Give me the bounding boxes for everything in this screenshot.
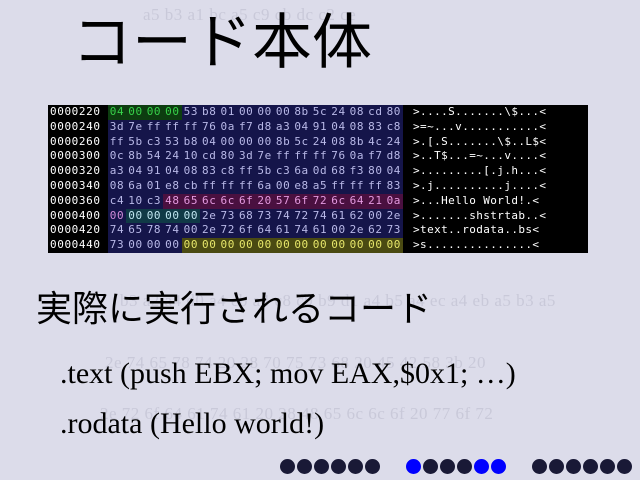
hexdump-byte: c3 — [145, 194, 163, 209]
hexdump-byte: 6f — [237, 194, 255, 209]
hexdump-byte: 64 — [255, 223, 273, 238]
hexdump-byte: 6a — [255, 179, 273, 194]
hexdump-byte: 00 — [108, 209, 126, 224]
hexdump-byte: 65 — [182, 194, 200, 209]
hexdump-byte: 00 — [255, 105, 273, 120]
hexdump-byte: 3d — [237, 149, 255, 164]
hexdump-byte: ff — [292, 149, 310, 164]
hexdump-byte: 62 — [348, 209, 366, 224]
hexdump-byte: 00 — [237, 238, 255, 253]
hexdump-byte: 0a — [385, 194, 403, 209]
hexdump-byte: f7 — [237, 120, 255, 135]
hexdump-byte: 00 — [274, 238, 292, 253]
hexdump-byte: 91 — [145, 164, 163, 179]
hexdump-byte: 48 — [163, 194, 181, 209]
hexdump-byte: 68 — [237, 209, 255, 224]
hexdump-byte: ff — [329, 179, 347, 194]
hexdump-ascii: >text..rodata..bs< — [403, 223, 588, 238]
hexdump-byte: 24 — [163, 149, 181, 164]
hexdump-byte: 6c — [219, 194, 237, 209]
hexdump-row: 0000240 3d7effffff760af7d8a30491040883c8… — [48, 120, 588, 135]
hexdump-byte: 10 — [182, 149, 200, 164]
hexdump-byte: e8 — [292, 179, 310, 194]
hexdump-byte: 83 — [385, 179, 403, 194]
hexdump-byte: 83 — [200, 164, 218, 179]
hexdump-byte: 00 — [274, 105, 292, 120]
hexdump-byte: 00 — [163, 105, 181, 120]
hexdump-byte: 8b — [292, 105, 310, 120]
hexdump-byte: 6a — [292, 164, 310, 179]
hexdump-byte: 3d — [108, 120, 126, 135]
hexdump-byte: 64 — [348, 194, 366, 209]
hexdump-ascii: >...Hello World!.< — [403, 194, 588, 209]
hexdump-byte: 00 — [126, 105, 144, 120]
hexdump-byte: 80 — [366, 164, 384, 179]
hexdump-byte: 2e — [200, 223, 218, 238]
hexdump-bytes: 0400000053b8010000008b5c2408cd80 — [108, 105, 403, 120]
hexdump-row: 0000260 ff5bc353b8040000008b5c24088b4c24… — [48, 135, 588, 150]
hexdump-byte: 00 — [163, 238, 181, 253]
hexdump-byte: 10 — [126, 194, 144, 209]
hexdump-byte: 00 — [219, 238, 237, 253]
hexdump-byte: 5c — [311, 105, 329, 120]
hexdump-byte: 0c — [108, 149, 126, 164]
progress-dot-inactive[interactable] — [314, 459, 329, 474]
hexdump-byte: 00 — [182, 238, 200, 253]
hexdump-byte: 7e — [126, 120, 144, 135]
hexdump-byte: ff — [200, 179, 218, 194]
body-line-description: 実際に実行されるコード — [36, 288, 432, 332]
hexdump-bytes: 00000000002e7368737472746162002e — [108, 209, 403, 224]
hexdump-byte: ff — [311, 149, 329, 164]
hexdump-byte: 00 — [366, 238, 384, 253]
hexdump-byte: 80 — [219, 149, 237, 164]
hexdump-byte: e8 — [163, 179, 181, 194]
progress-dot-inactive[interactable] — [331, 459, 346, 474]
hexdump-byte: a3 — [274, 120, 292, 135]
hexdump-byte: 04 — [108, 105, 126, 120]
hexdump-byte: b8 — [182, 135, 200, 150]
hexdump-byte: ff — [237, 179, 255, 194]
hexdump-byte: 08 — [108, 179, 126, 194]
hexdump-byte: ff — [182, 120, 200, 135]
hexdump-bytes: ff5bc353b8040000008b5c24088b4c24 — [108, 135, 403, 150]
hexdump-byte: 5b — [126, 135, 144, 150]
hexdump-byte: 04 — [200, 135, 218, 150]
hexdump-byte: 20 — [255, 194, 273, 209]
hexdump-bytes: 086a01e8cbffffff6a00e8a5ffffff83 — [108, 179, 403, 194]
hexdump-row: 0000300 0c8b542410cd803d7effffff760af7d8… — [48, 149, 588, 164]
hexdump-byte: 83 — [366, 120, 384, 135]
hexdump-byte: cb — [182, 179, 200, 194]
hexdump-byte: 00 — [126, 209, 144, 224]
hexdump-ascii: >.[.S.......\$..L$< — [403, 135, 588, 150]
hexdump-ascii: >=~...v...........< — [403, 120, 588, 135]
hexdump-byte: 24 — [385, 135, 403, 150]
progress-dot-group — [406, 459, 506, 474]
hexdump-bytes: 3d7effffff760af7d8a30491040883c8 — [108, 120, 403, 135]
hexdump-row: 0000400 00000000002e7368737472746162002e… — [48, 209, 588, 224]
hexdump-byte: 73 — [255, 209, 273, 224]
hexdump-address: 0000260 — [48, 135, 108, 150]
progress-dot-inactive[interactable] — [457, 459, 472, 474]
hexdump-byte: 00 — [163, 209, 181, 224]
progress-dot-active[interactable] — [474, 459, 489, 474]
hexdump-byte: 74 — [108, 223, 126, 238]
hexdump-row: 0000360 c410c348656c6c6f20576f726c64210a… — [48, 194, 588, 209]
hexdump-byte: ff — [108, 135, 126, 150]
hexdump-byte: 00 — [126, 238, 144, 253]
progress-dot-inactive[interactable] — [600, 459, 615, 474]
hexdump-byte: ff — [219, 179, 237, 194]
hexdump-ascii: >....S.......\$...< — [403, 105, 588, 120]
hexdump-ascii: >s...............< — [403, 238, 588, 253]
hexdump-byte: 2e — [348, 223, 366, 238]
hexdump-byte: 6f — [292, 194, 310, 209]
hexdump-byte: 00 — [366, 209, 384, 224]
progress-dot-group — [280, 459, 380, 474]
hexdump-byte: 72 — [311, 194, 329, 209]
hexdump-byte: 01 — [145, 179, 163, 194]
hexdump-byte: c3 — [145, 135, 163, 150]
hexdump-byte: f7 — [366, 149, 384, 164]
hexdump-byte: 73 — [108, 238, 126, 253]
hexdump-byte: 08 — [348, 105, 366, 120]
hexdump-byte: cd — [366, 105, 384, 120]
hexdump-byte: 04 — [329, 120, 347, 135]
hexdump-byte: 8b — [126, 149, 144, 164]
hexdump-byte: 73 — [385, 223, 403, 238]
hexdump-byte: 6c — [200, 194, 218, 209]
hexdump-byte: 08 — [329, 135, 347, 150]
hexdump-byte: 80 — [385, 105, 403, 120]
hexdump-bytes: 73000000000000000000000000000000 — [108, 238, 403, 253]
progress-dot-inactive[interactable] — [423, 459, 438, 474]
hexdump-byte: a3 — [108, 164, 126, 179]
hexdump-ascii: >.j..........j....< — [403, 179, 588, 194]
hexdump-row: 0000340 086a01e8cbffffff6a00e8a5ffffff83… — [48, 179, 588, 194]
hexdump-byte: b8 — [200, 105, 218, 120]
hexdump-byte: a5 — [311, 179, 329, 194]
progress-dot-inactive[interactable] — [532, 459, 547, 474]
hexdump-byte: 00 — [237, 135, 255, 150]
hexdump-byte: 5c — [292, 135, 310, 150]
hexdump-byte: 73 — [219, 209, 237, 224]
hexdump-byte: 21 — [366, 194, 384, 209]
progress-dot-active[interactable] — [491, 459, 506, 474]
hexdump-byte: 62 — [366, 223, 384, 238]
hexdump-byte: 74 — [311, 209, 329, 224]
hexdump-address: 0000240 — [48, 120, 108, 135]
hexdump-address: 0000360 — [48, 194, 108, 209]
hexdump-panel: 0000220 0400000053b8010000008b5c2408cd80… — [48, 105, 588, 253]
hexdump-byte: 00 — [292, 238, 310, 253]
hexdump-byte: 04 — [385, 164, 403, 179]
progress-dot-group — [532, 459, 632, 474]
hexdump-byte: 7e — [255, 149, 273, 164]
progress-dot-inactive[interactable] — [280, 459, 295, 474]
progress-dot-inactive[interactable] — [549, 459, 564, 474]
hexdump-ascii: >.......shstrtab..< — [403, 209, 588, 224]
slide-title: コード本体 — [72, 6, 372, 80]
hexdump-byte: 00 — [182, 209, 200, 224]
hexdump-byte: 00 — [385, 238, 403, 253]
hexdump-byte: 6f — [237, 223, 255, 238]
hexdump-byte: 00 — [145, 238, 163, 253]
body-line-rodata-section: .rodata (Hello world!) — [60, 405, 324, 443]
hexdump-byte: 01 — [219, 105, 237, 120]
hexdump-byte: d8 — [385, 149, 403, 164]
hexdump-byte: 54 — [145, 149, 163, 164]
hexdump-byte: 2e — [385, 209, 403, 224]
hexdump-byte: c4 — [108, 194, 126, 209]
hexdump-byte: 00 — [200, 238, 218, 253]
hexdump-byte: c8 — [219, 164, 237, 179]
hexdump-byte: 8b — [348, 135, 366, 150]
hexdump-byte: 76 — [329, 149, 347, 164]
progress-dot-inactive[interactable] — [297, 459, 312, 474]
hexdump-bytes: 74657874002e726f64617461002e6273 — [108, 223, 403, 238]
hexdump-byte: 0a — [219, 120, 237, 135]
hexdump-ascii: >..T$...=~...v....< — [403, 149, 588, 164]
hexdump-byte: ff — [366, 179, 384, 194]
hexdump-byte: 00 — [255, 135, 273, 150]
progress-dot-inactive[interactable] — [617, 459, 632, 474]
hexdump-address: 0000320 — [48, 164, 108, 179]
hexdump-byte: f3 — [348, 164, 366, 179]
hexdump-address: 0000300 — [48, 149, 108, 164]
hexdump-byte: 00 — [274, 179, 292, 194]
hexdump-byte: 53 — [182, 105, 200, 120]
hexdump-row: 0000320 a30491040883c8ff5bc36a0d68f38004… — [48, 164, 588, 179]
hexdump-byte: 72 — [292, 209, 310, 224]
hexdump-byte: 00 — [145, 209, 163, 224]
hexdump-byte: 00 — [311, 238, 329, 253]
hexdump-byte: 61 — [274, 223, 292, 238]
hexdump-byte: 00 — [348, 238, 366, 253]
hexdump-byte: 78 — [145, 223, 163, 238]
hexdump-byte: 00 — [145, 105, 163, 120]
hexdump-byte: 00 — [237, 105, 255, 120]
hexdump-byte: 04 — [292, 120, 310, 135]
hexdump-byte: ff — [145, 120, 163, 135]
hexdump-byte: 08 — [182, 164, 200, 179]
hexdump-byte: 00 — [329, 238, 347, 253]
hexdump-address: 0000220 — [48, 105, 108, 120]
hexdump-byte: ff — [348, 179, 366, 194]
hexdump-byte: 04 — [163, 164, 181, 179]
hexdump-byte: cd — [200, 149, 218, 164]
hexdump-byte: 24 — [329, 105, 347, 120]
hexdump-byte: 0a — [348, 149, 366, 164]
hexdump-byte: 2e — [200, 209, 218, 224]
hexdump-byte: 57 — [274, 194, 292, 209]
hexdump-byte: c3 — [274, 164, 292, 179]
hexdump-byte: c8 — [385, 120, 403, 135]
hexdump-byte: 08 — [348, 120, 366, 135]
progress-dot-inactive[interactable] — [566, 459, 581, 474]
hexdump-row: 0000420 74657874002e726f64617461002e6273… — [48, 223, 588, 238]
progress-dot-inactive[interactable] — [583, 459, 598, 474]
hexdump-byte: 00 — [219, 135, 237, 150]
progress-dots — [0, 459, 640, 474]
hexdump-address: 0000400 — [48, 209, 108, 224]
hexdump-byte: 00 — [329, 223, 347, 238]
progress-dot-inactive[interactable] — [348, 459, 363, 474]
hexdump-ascii: >.........[.j.h...< — [403, 164, 588, 179]
hexdump-byte: ff — [163, 120, 181, 135]
hexdump-bytes: a30491040883c8ff5bc36a0d68f38004 — [108, 164, 403, 179]
body-line-text-section: .text (push EBX; mov EAX,$0x1; …) — [60, 355, 516, 393]
hexdump-byte: 5b — [255, 164, 273, 179]
hexdump-byte: 74 — [274, 209, 292, 224]
hexdump-row: 0000440 73000000000000000000000000000000… — [48, 238, 588, 253]
hexdump-address: 0000440 — [48, 238, 108, 253]
hexdump-byte: 00 — [182, 223, 200, 238]
hexdump-byte: 74 — [292, 223, 310, 238]
hexdump-byte: 24 — [311, 135, 329, 150]
hexdump-byte: 91 — [311, 120, 329, 135]
hexdump-byte: 4c — [366, 135, 384, 150]
hexdump-byte: ff — [237, 164, 255, 179]
hexdump-address: 0000340 — [48, 179, 108, 194]
hexdump-byte: ff — [274, 149, 292, 164]
hexdump-byte: d8 — [255, 120, 273, 135]
hexdump-byte: 61 — [311, 223, 329, 238]
hexdump-byte: 00 — [255, 238, 273, 253]
hexdump-byte: 6a — [126, 179, 144, 194]
hexdump-byte: 61 — [329, 209, 347, 224]
progress-dot-inactive[interactable] — [440, 459, 455, 474]
progress-dot-active[interactable] — [406, 459, 421, 474]
hexdump-byte: 65 — [126, 223, 144, 238]
hexdump-byte: 6c — [329, 194, 347, 209]
hexdump-address: 0000420 — [48, 223, 108, 238]
hexdump-byte: 74 — [163, 223, 181, 238]
hexdump-bytes: c410c348656c6c6f20576f726c64210a — [108, 194, 403, 209]
hexdump-row: 0000220 0400000053b8010000008b5c2408cd80… — [48, 105, 588, 120]
progress-dot-inactive[interactable] — [365, 459, 380, 474]
hexdump-byte: 8b — [274, 135, 292, 150]
hexdump-bytes: 0c8b542410cd803d7effffff760af7d8 — [108, 149, 403, 164]
hexdump-byte: 68 — [329, 164, 347, 179]
hexdump-byte: 76 — [200, 120, 218, 135]
hexdump-byte: 04 — [126, 164, 144, 179]
hexdump-byte: 72 — [219, 223, 237, 238]
hexdump-byte: 0d — [311, 164, 329, 179]
hexdump-byte: 53 — [163, 135, 181, 150]
